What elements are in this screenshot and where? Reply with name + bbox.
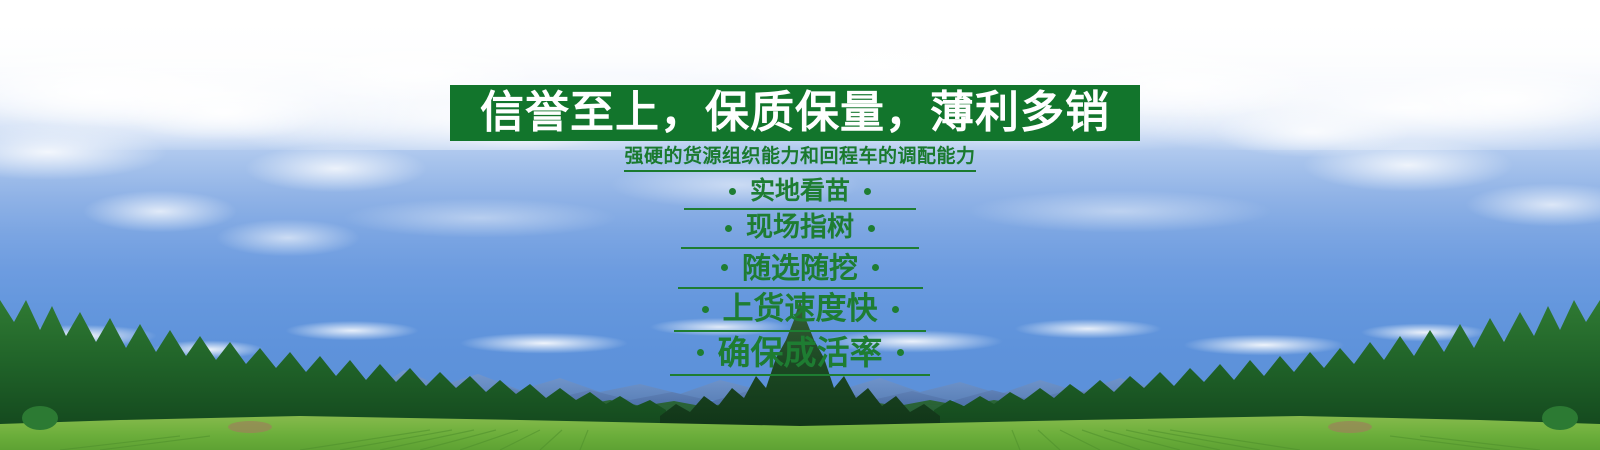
dot-bullet-icon	[729, 188, 736, 195]
feature-item-2: 随选随挖	[678, 253, 923, 289]
feature-item-1: 现场指树	[681, 214, 919, 248]
banner-content: 信誉至上，保质保量，薄利多销 强硬的货源组织能力和回程车的调配能力 实地看苗 现…	[0, 0, 1600, 450]
feature-item-3: 上货速度快	[674, 293, 926, 332]
feature-list: 实地看苗 现场指树 随选随挖 上货速度快 确保成活率	[0, 178, 1600, 380]
feature-item-4: 确保成活率	[670, 336, 930, 377]
dot-bullet-icon	[868, 225, 875, 232]
feature-label: 现场指树	[732, 214, 868, 242]
dot-bullet-icon	[892, 306, 899, 313]
feature-label: 实地看苗	[736, 178, 864, 204]
promo-banner: 信誉至上，保质保量，薄利多销 强硬的货源组织能力和回程车的调配能力 实地看苗 现…	[0, 0, 1600, 450]
feature-label: 随选随挖	[728, 253, 872, 283]
dot-bullet-icon	[864, 188, 871, 195]
dot-bullet-icon	[697, 349, 704, 356]
dot-bullet-icon	[897, 349, 904, 356]
dot-bullet-icon	[721, 264, 728, 271]
subtitle-row: 强硬的货源组织能力和回程车的调配能力	[0, 146, 1600, 172]
dot-bullet-icon	[725, 225, 732, 232]
feature-label: 上货速度快	[709, 293, 892, 326]
dot-bullet-icon	[702, 306, 709, 313]
subtitle-text: 强硬的货源组织能力和回程车的调配能力	[624, 146, 975, 172]
headline-text: 信誉至上，保质保量，薄利多销	[480, 91, 1110, 135]
dot-bullet-icon	[872, 264, 879, 271]
feature-item-0: 实地看苗	[684, 178, 916, 210]
feature-label: 确保成活率	[704, 336, 897, 371]
headline-band: 信誉至上，保质保量，薄利多销	[450, 85, 1140, 141]
